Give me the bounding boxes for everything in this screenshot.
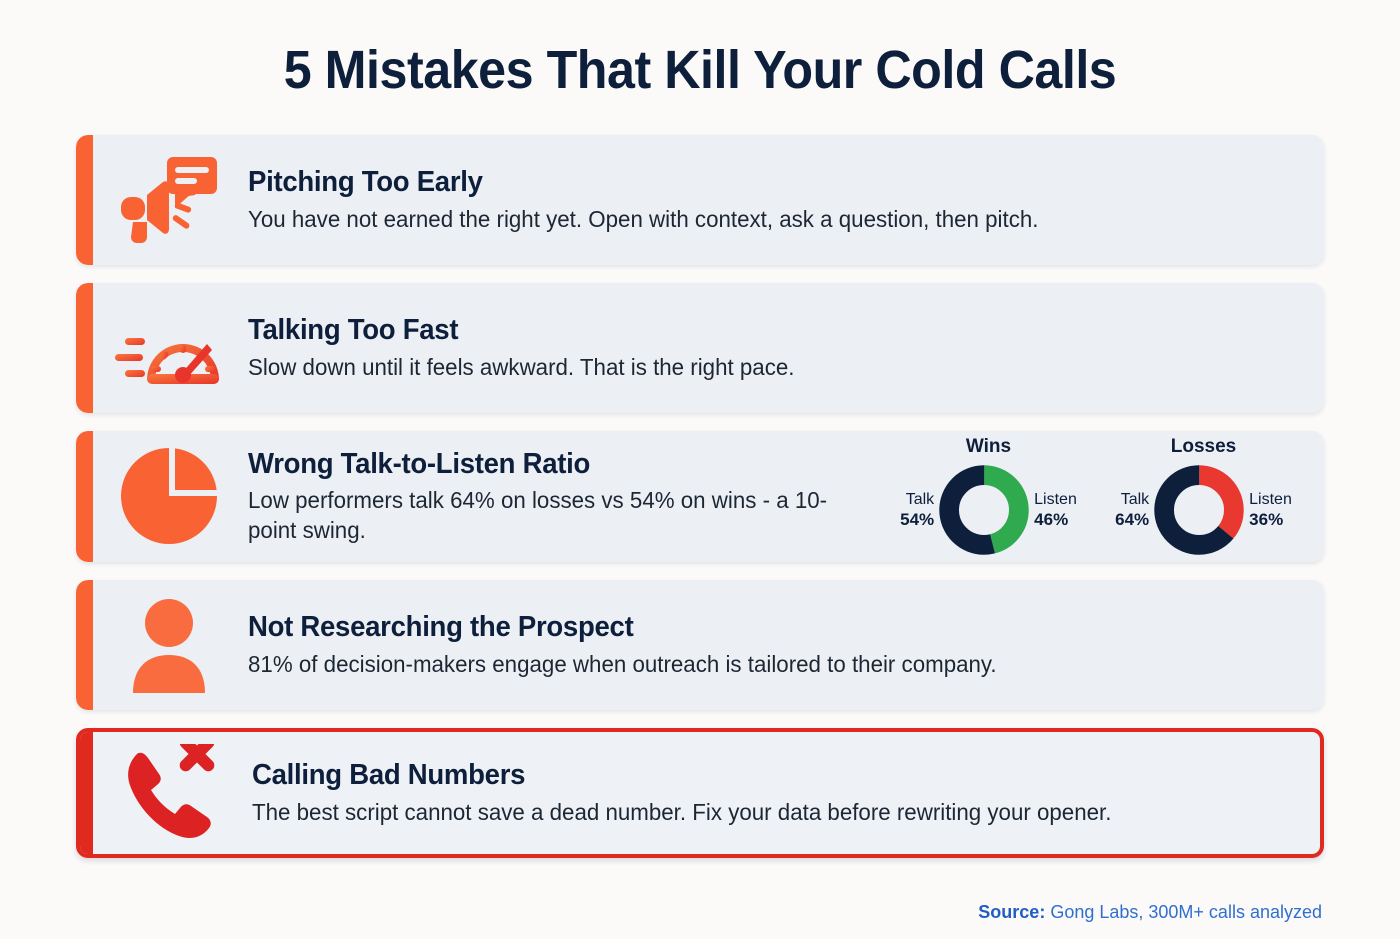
card-title: Pitching Too Early xyxy=(248,165,1247,199)
card-description: 81% of decision-makers engage when outre… xyxy=(248,649,1268,679)
card-title: Wrong Talk-to-Listen Ratio xyxy=(248,447,831,481)
phone-x-icon xyxy=(123,744,223,842)
card-title: Not Researching the Prospect xyxy=(248,610,1247,644)
list-item-pitching-too-early[interactable]: Pitching Too Early You have not earned t… xyxy=(76,135,1324,265)
accent-bar xyxy=(76,431,93,562)
legend-label: Talk xyxy=(906,491,934,508)
legend-value: 64% xyxy=(1115,510,1149,530)
donut-row: Talk 64% Listen 36% xyxy=(1115,464,1292,556)
list-item-wrong-talk-to-listen-ratio[interactable]: Wrong Talk-to-Listen Ratio Low performer… xyxy=(76,431,1324,562)
text-cell: Pitching Too Early You have not earned t… xyxy=(248,149,1324,250)
card-description: You have not earned the right yet. Open … xyxy=(248,204,1268,234)
donut-chart-losses: Losses Talk 64% Listen 36% xyxy=(1101,436,1306,556)
accent-bar xyxy=(76,135,93,265)
donut-slice-talk xyxy=(949,475,1019,545)
donut-legend-listen-losses: Listen 36% xyxy=(1249,491,1292,529)
card-description: Low performers talk 64% on losses vs 54%… xyxy=(248,485,844,546)
text-cell: Wrong Talk-to-Listen Ratio Low performer… xyxy=(248,431,886,562)
donut-legend-talk-losses: Talk 64% xyxy=(1115,491,1149,529)
legend-value: 46% xyxy=(1034,510,1077,530)
source-label: Source: xyxy=(978,902,1045,922)
donut-charts: Wins Talk 54% Listen 46 xyxy=(886,436,1324,556)
accent-bar xyxy=(76,580,93,710)
pie-chart-icon xyxy=(117,444,221,548)
card-title: Talking Too Fast xyxy=(248,313,1247,347)
megaphone-icon xyxy=(117,153,221,247)
mistakes-list: Pitching Too Early You have not earned t… xyxy=(0,135,1400,858)
speedometer-icon xyxy=(113,304,225,392)
text-cell: Talking Too Fast Slow down until it feel… xyxy=(248,297,1324,398)
icon-cell xyxy=(80,744,252,842)
donut-legend-talk-wins: Talk 54% xyxy=(900,491,934,529)
legend-value: 36% xyxy=(1249,510,1292,530)
donut-title-wins: Wins xyxy=(966,436,1011,458)
icon-cell xyxy=(76,304,248,392)
icon-cell xyxy=(76,444,248,548)
legend-label: Listen xyxy=(1249,491,1292,508)
list-item-talking-too-fast[interactable]: Talking Too Fast Slow down until it feel… xyxy=(76,283,1324,413)
card-description: The best script cannot save a dead numbe… xyxy=(252,797,1265,827)
text-cell: Calling Bad Numbers The best script cann… xyxy=(252,742,1320,843)
donut-legend-listen-wins: Listen 46% xyxy=(1034,491,1077,529)
donut-svg-wins xyxy=(938,464,1030,556)
accent-bar xyxy=(76,283,93,413)
donut-svg-losses xyxy=(1153,464,1245,556)
icon-cell xyxy=(76,597,248,693)
legend-label: Talk xyxy=(1121,491,1149,508)
list-item-not-researching-the-prospect[interactable]: Not Researching the Prospect 81% of deci… xyxy=(76,580,1324,710)
donut-row: Talk 54% Listen 46% xyxy=(900,464,1077,556)
text-cell: Not Researching the Prospect 81% of deci… xyxy=(248,594,1324,695)
list-item-calling-bad-numbers[interactable]: Calling Bad Numbers The best script cann… xyxy=(76,728,1324,858)
donut-chart-wins: Wins Talk 54% Listen 46 xyxy=(886,436,1091,556)
source-text: Gong Labs, 300M+ calls analyzed xyxy=(1045,902,1322,922)
accent-bar xyxy=(80,732,93,854)
card-description: Slow down until it feels awkward. That i… xyxy=(248,352,1268,382)
donut-title-losses: Losses xyxy=(1171,436,1236,458)
page-title: 5 Mistakes That Kill Your Cold Calls xyxy=(49,0,1351,99)
icon-cell xyxy=(76,153,248,247)
legend-value: 54% xyxy=(900,510,934,530)
card-title: Calling Bad Numbers xyxy=(252,758,1244,792)
source-footer: Source: Gong Labs, 300M+ calls analyzed xyxy=(978,902,1322,923)
infographic-page: 5 Mistakes That Kill Your Cold Calls xyxy=(0,0,1400,939)
donut-slice-talk xyxy=(1164,475,1234,545)
legend-label: Listen xyxy=(1034,491,1077,508)
person-icon xyxy=(126,597,212,693)
